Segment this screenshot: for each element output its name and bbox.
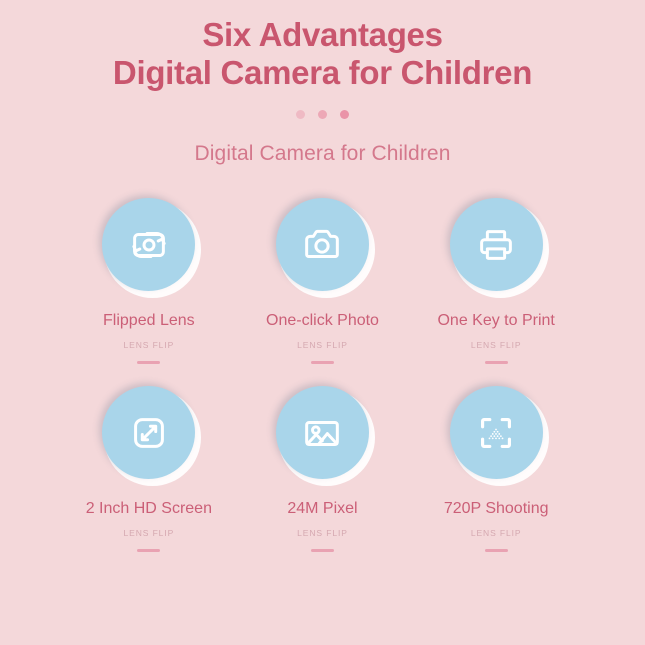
feature-caption: LENS FLIP	[124, 528, 175, 538]
feature-rule	[311, 549, 334, 552]
feature-icon-circle	[102, 386, 195, 479]
separator-dot-3	[340, 110, 349, 119]
printer-icon	[473, 222, 519, 268]
feature-label: One-click Photo	[266, 312, 379, 330]
feature-caption: LENS FLIP	[297, 528, 348, 538]
focus-scan-icon	[473, 410, 519, 456]
feature-item: Flipped Lens LENS FLIP	[62, 198, 236, 364]
feature-icon-circle	[450, 198, 543, 291]
feature-label: 720P Shooting	[444, 500, 549, 518]
feature-rule	[311, 361, 334, 364]
feature-label: 24M Pixel	[287, 500, 357, 518]
flip-camera-icon	[126, 222, 172, 268]
feature-icon-circle	[276, 386, 369, 479]
feature-icon-circle	[102, 198, 195, 291]
feature-item: One-click Photo LENS FLIP	[236, 198, 410, 364]
camera-icon	[299, 222, 345, 268]
page-title-line-1: Six Advantages	[0, 16, 645, 54]
feature-item: 2 Inch HD Screen LENS FLIP	[62, 386, 236, 552]
photo-image-icon	[299, 410, 345, 456]
feature-rule	[137, 361, 160, 364]
feature-rule	[137, 549, 160, 552]
feature-caption: LENS FLIP	[471, 528, 522, 538]
feature-icon-circle	[450, 386, 543, 479]
feature-grid: Flipped Lens LENS FLIP One-click Photo L…	[0, 198, 645, 552]
separator-dot-1	[296, 110, 305, 119]
screen-expand-icon	[126, 410, 172, 456]
feature-caption: LENS FLIP	[297, 340, 348, 350]
header: Six Advantages Digital Camera for Childr…	[0, 0, 645, 91]
separator-dot-2	[318, 110, 327, 119]
feature-caption: LENS FLIP	[124, 340, 175, 350]
infographic-page: Six Advantages Digital Camera for Childr…	[0, 0, 645, 645]
feature-rule	[485, 549, 508, 552]
feature-label: One Key to Print	[437, 312, 554, 330]
feature-icon-circle	[276, 198, 369, 291]
page-subtitle: Digital Camera for Children	[0, 142, 645, 166]
feature-item: One Key to Print LENS FLIP	[409, 198, 583, 364]
feature-item: 720P Shooting LENS FLIP	[409, 386, 583, 552]
page-title-line-2: Digital Camera for Children	[0, 54, 645, 92]
feature-rule	[485, 361, 508, 364]
feature-caption: LENS FLIP	[471, 340, 522, 350]
feature-item: 24M Pixel LENS FLIP	[236, 386, 410, 552]
feature-label: 2 Inch HD Screen	[86, 500, 212, 518]
feature-label: Flipped Lens	[103, 312, 195, 330]
dot-separator	[0, 108, 645, 120]
